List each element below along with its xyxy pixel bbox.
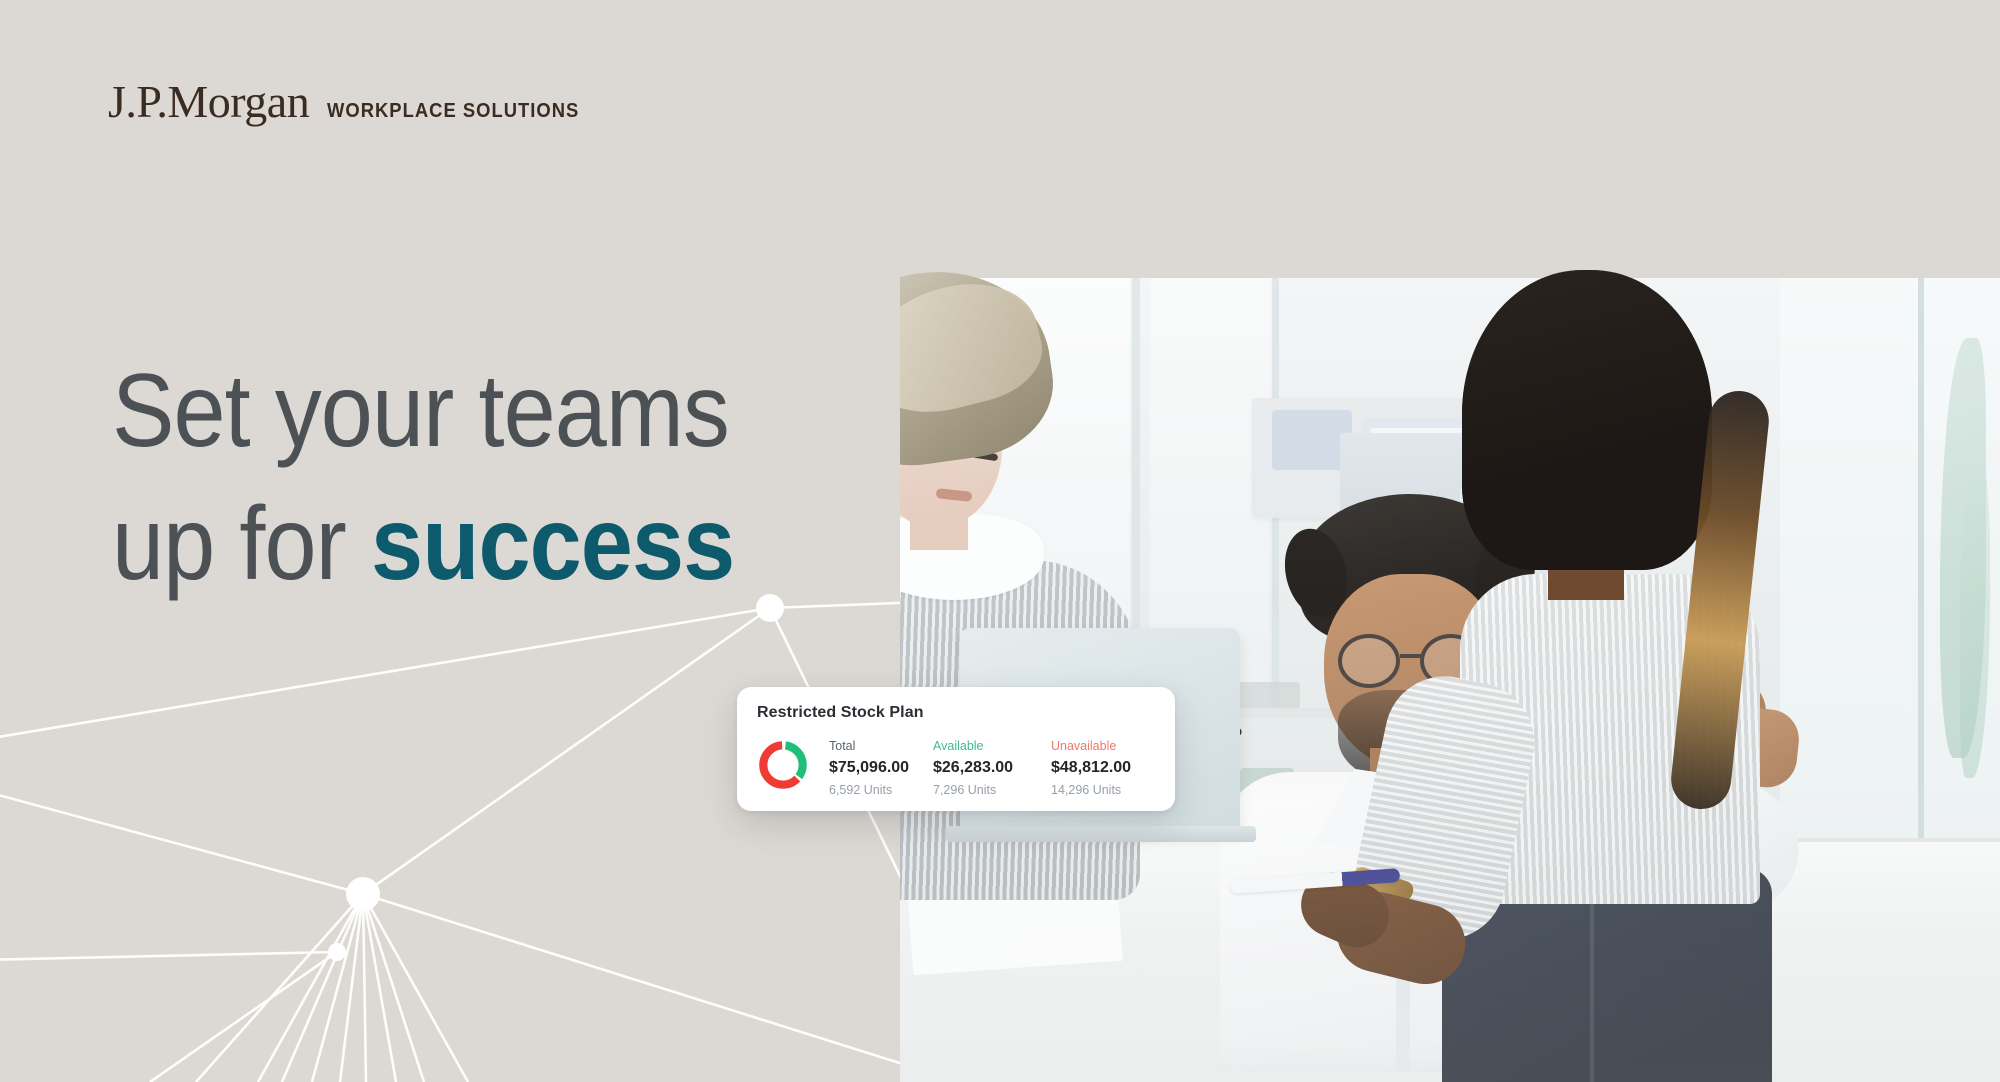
metric-available-units: 7,296 Units (933, 781, 1051, 799)
card-body: Total $75,096.00 6,592 Units Available $… (757, 738, 1155, 799)
metric-unavailable: Unavailable $48,812.00 14,296 Units (1051, 738, 1181, 799)
metric-available-label: Available (933, 738, 1051, 755)
man-eyeglass-bridge (1400, 654, 1422, 658)
card-title: Restricted Stock Plan (757, 704, 1155, 722)
hero-photo (900, 278, 2000, 1082)
metric-available-value: $26,283.00 (933, 758, 1051, 779)
metric-unavailable-value: $48,812.00 (1051, 758, 1181, 779)
brand-logo[interactable]: J.P.Morgan WORKPLACE SOLUTIONS (108, 75, 601, 128)
metric-total-value: $75,096.00 (829, 758, 933, 779)
shelf-object-upper (1230, 682, 1300, 708)
metric-total-label: Total (829, 738, 933, 755)
metric-unavailable-units: 14,296 Units (1051, 781, 1181, 799)
man-eyeglass-left (1338, 634, 1400, 688)
network-nodes (328, 594, 784, 961)
hero-banner: J.P.Morgan WORKPLACE SOLUTIONS Set your … (0, 0, 2000, 1082)
headline-line-1: Set your teams (112, 353, 729, 469)
restricted-stock-plan-card[interactable]: Restricted Stock Plan Total $75,096.00 6… (737, 687, 1175, 811)
metric-available: Available $26,283.00 7,296 Units (933, 738, 1051, 799)
woman-right-hair (1462, 278, 1712, 570)
allocation-donut-chart (757, 739, 809, 791)
metrics-group: Total $75,096.00 6,592 Units Available $… (829, 738, 1181, 799)
metric-total-units: 6,592 Units (829, 781, 933, 799)
metric-total: Total $75,096.00 6,592 Units (829, 738, 933, 799)
headline-line-2-plain: up for (112, 486, 371, 602)
logo-subtitle: WORKPLACE SOLUTIONS (327, 100, 579, 123)
window-mullion-3 (1918, 278, 1924, 918)
metric-unavailable-label: Unavailable (1051, 738, 1181, 755)
laptop-base (946, 826, 1256, 842)
woman-right-jeans-seam (1590, 878, 1594, 1082)
page-title: Set your teams up for success (112, 345, 814, 611)
headline-accent-word: success (371, 486, 734, 602)
logo-wordmark: J.P.Morgan (108, 75, 309, 128)
